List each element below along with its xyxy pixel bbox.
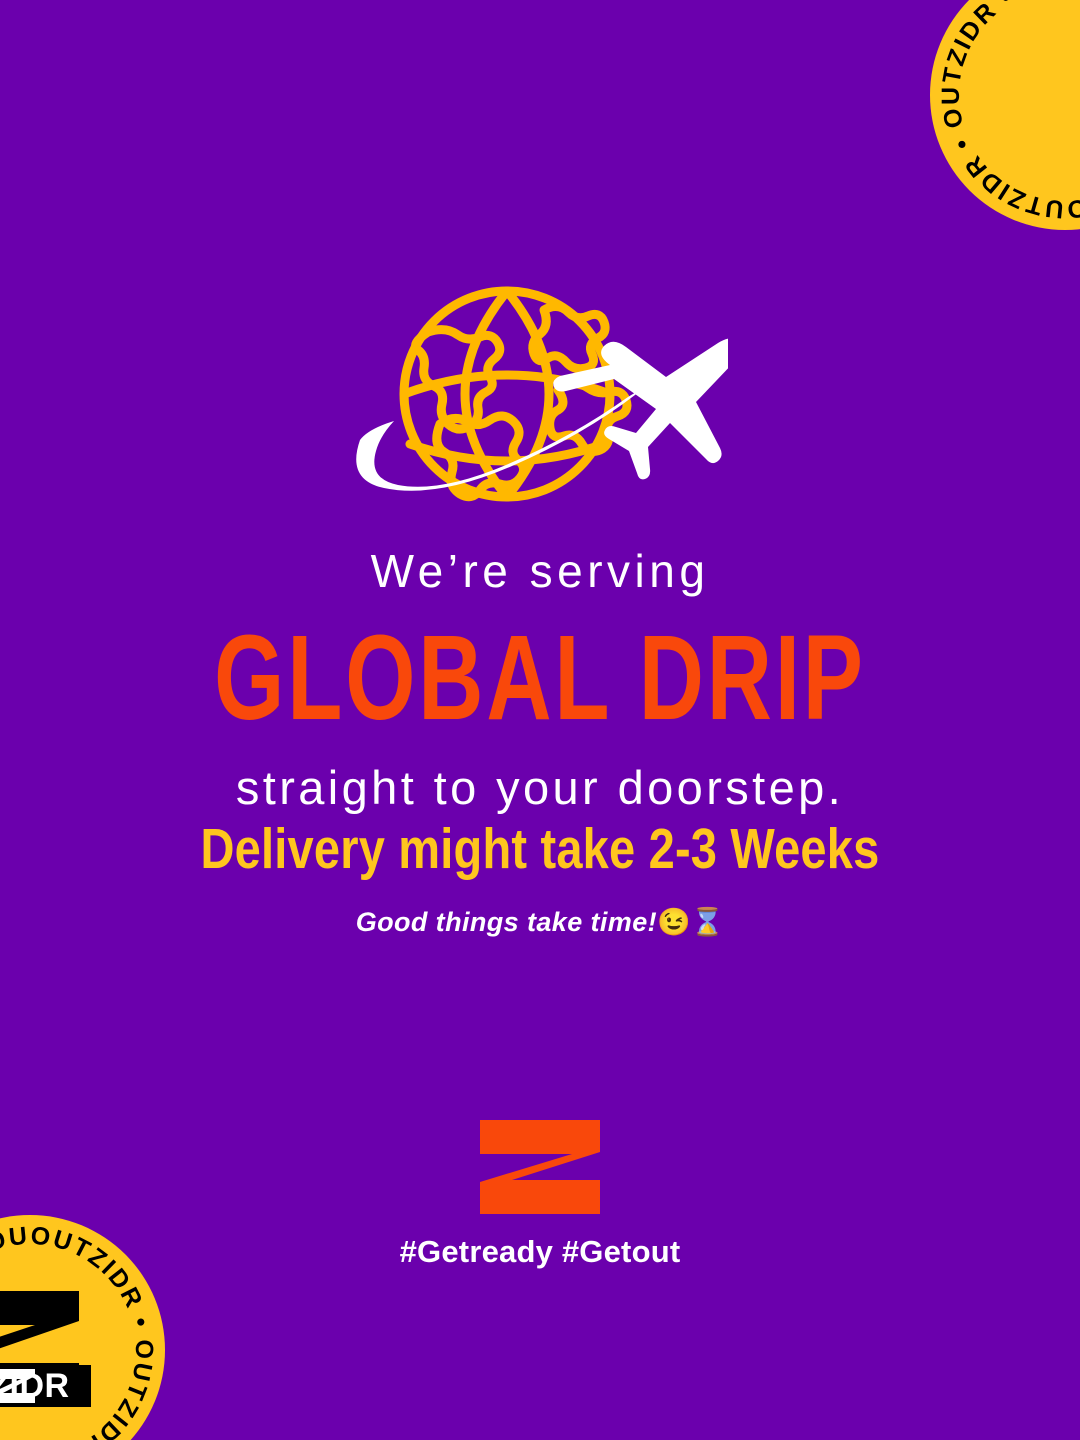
outzidr-z-logo-icon: [476, 1118, 604, 1216]
hourglass-emoji: ⌛: [691, 907, 725, 937]
headline-block: We’re serving GLOBAL DRIP straight to yo…: [0, 548, 1080, 811]
outzidr-seal-bottom-left: OUTZIDR • OUTZIDR • OUTZIDR • OUTZIDR • …: [0, 1215, 165, 1440]
doorstep-line: straight to your doorstep.: [0, 764, 1080, 811]
delivery-notice-block: Delivery might take 2-3 Weeks Good thing…: [0, 820, 1080, 936]
seal-ring-text-tr: OUTZIDR • OUTZIDR • OUTZIDR • OUTZIDR • …: [930, 0, 1080, 223]
wink-face-emoji: 😉: [657, 907, 691, 937]
airplane-icon: [553, 338, 728, 479]
poster-canvas: We’re serving GLOBAL DRIP straight to yo…: [0, 0, 1080, 1440]
globe-airplane-emblem: [352, 272, 728, 520]
delivery-time-notice: Delivery might take 2-3 Weeks: [0, 820, 1080, 876]
subnote-text: Good things take time!: [356, 907, 657, 937]
outzidr-seal-top-right: OUTZIDR • OUTZIDR • OUTZIDR • OUTZIDR • …: [930, 0, 1080, 230]
serving-line: We’re serving: [0, 548, 1080, 594]
seal-wordmark-bl: OUTZIDR: [0, 1365, 91, 1407]
delivery-subnote: Good things take time!😉⌛: [0, 909, 1080, 936]
headline-global-drip: GLOBAL DRIP: [22, 618, 1059, 738]
globe-continents-icon: [416, 306, 627, 496]
